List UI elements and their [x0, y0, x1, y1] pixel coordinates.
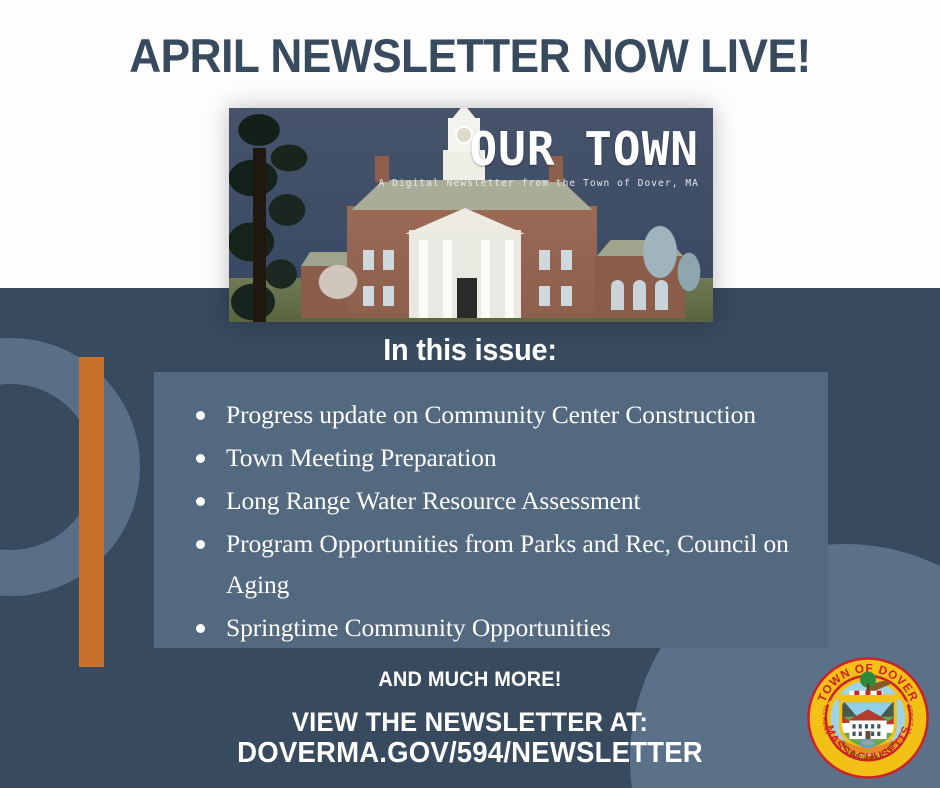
column — [481, 240, 490, 318]
window — [383, 286, 394, 306]
in-this-issue-heading: In this issue: — [33, 332, 907, 368]
column — [419, 240, 428, 318]
building-door — [457, 278, 477, 318]
arched-window — [611, 280, 624, 310]
issue-list: Progress update on Community Center Cons… — [184, 394, 798, 648]
window — [539, 250, 550, 270]
orange-accent-bar — [79, 357, 104, 667]
issue-contents-box: Progress update on Community Center Cons… — [154, 372, 828, 648]
banner-subtitle: A Digital Newsletter from the Town of Do… — [378, 178, 699, 189]
list-item: Town Meeting Preparation — [184, 437, 798, 478]
banner-title: OUR TOWN — [469, 126, 699, 172]
list-item: Long Range Water Resource Assessment — [184, 480, 798, 521]
list-item: Springtime Community Opportunities — [184, 607, 798, 648]
window — [539, 286, 550, 306]
tree-far-right — [669, 238, 709, 308]
window — [561, 250, 572, 270]
and-much-more-text: AND MUCH MORE! — [24, 668, 917, 692]
newsletter-url[interactable]: DOVERMA.GOV/594/NEWSLETTER — [24, 737, 917, 770]
seal-crest-bar — [835, 694, 902, 699]
page-title: APRIL NEWSLETTER NOW LIVE! — [28, 28, 912, 83]
list-item: Program Opportunities from Parks and Rec… — [184, 523, 798, 605]
window — [561, 286, 572, 306]
view-newsletter-label: VIEW THE NEWSLETTER AT: — [24, 707, 917, 738]
newsletter-banner-image: OUR TOWN A Digital Newsletter from the T… — [229, 108, 713, 322]
column — [443, 240, 452, 318]
window — [383, 250, 394, 270]
list-item: Progress update on Community Center Cons… — [184, 394, 798, 435]
poster-canvas: APRIL NEWSLETTER NOW LIVE! — [0, 0, 940, 788]
column — [505, 240, 514, 318]
town-of-dover-seal-logo: TOWN OF DOVER MASSACHUSETTS PARISH 1748 … — [806, 656, 930, 780]
tree-trunk — [253, 148, 266, 322]
tree-left — [229, 108, 321, 322]
